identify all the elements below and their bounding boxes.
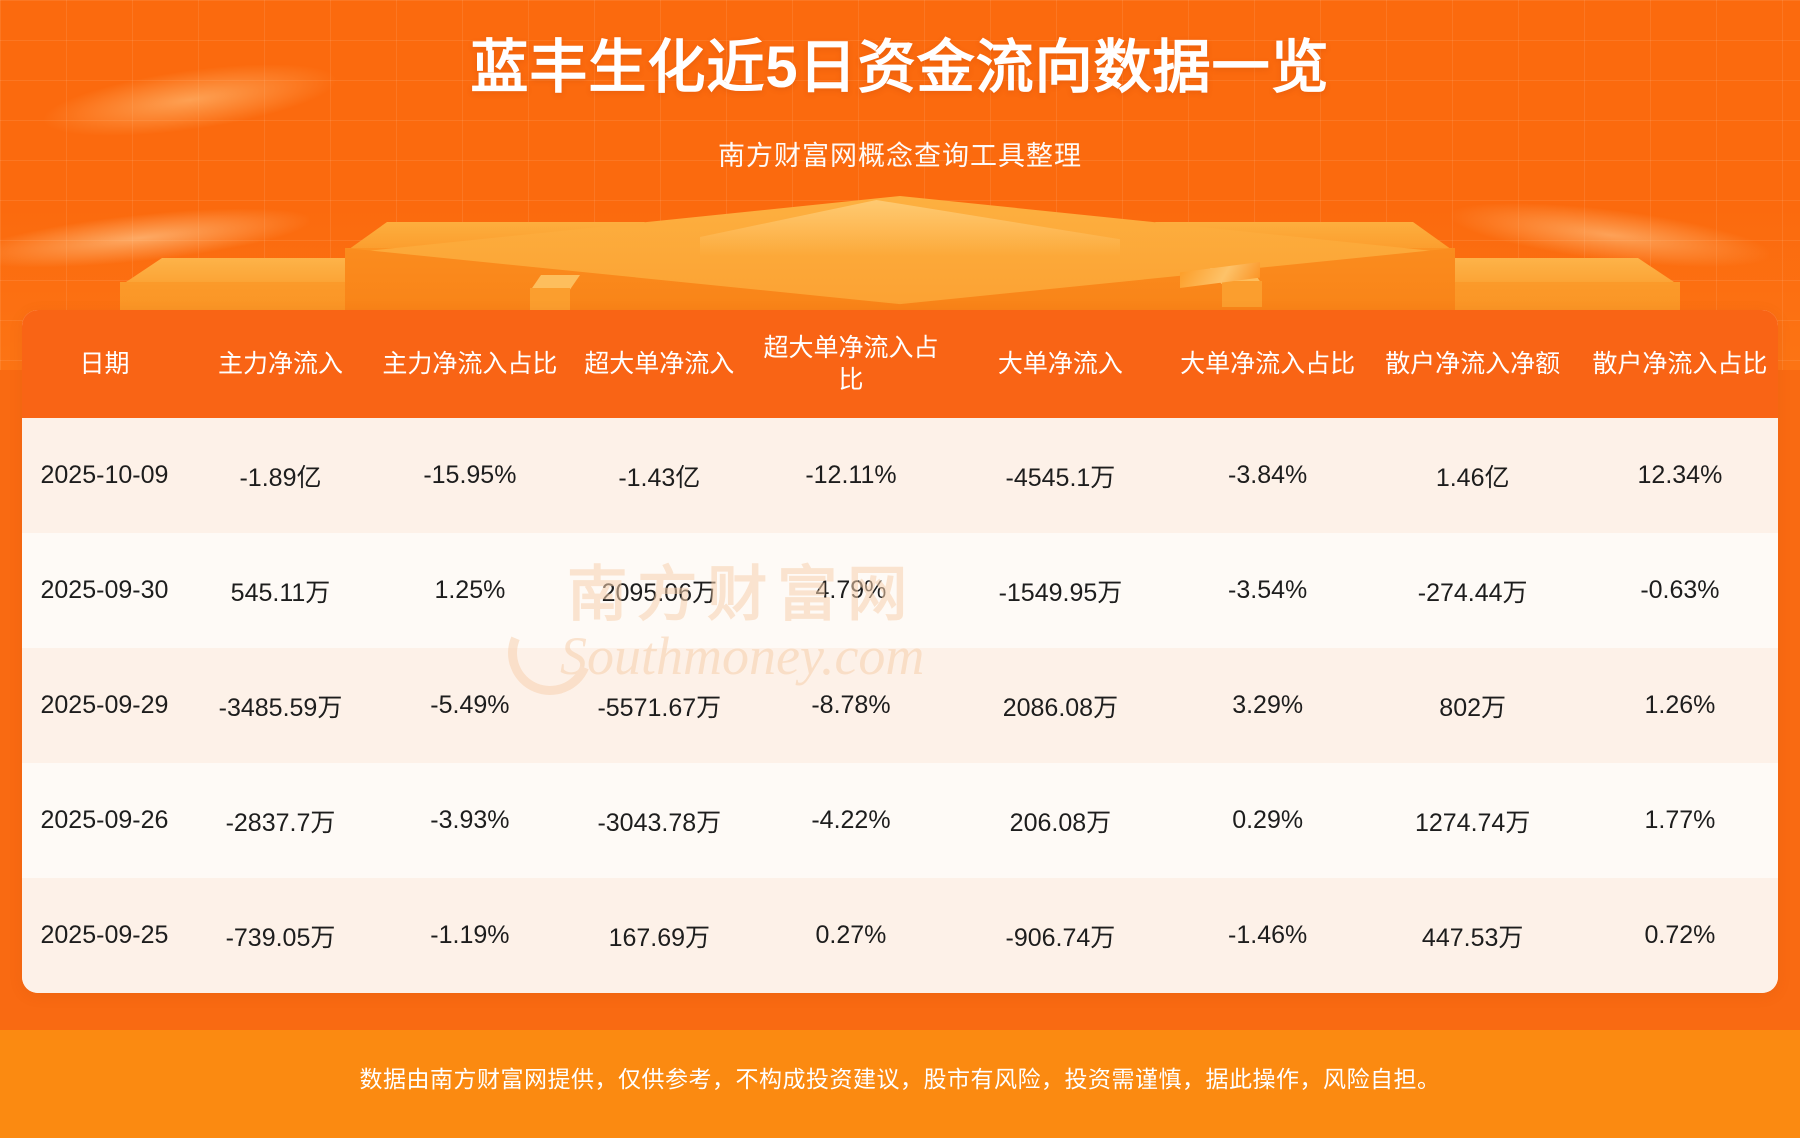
cell-value: 802万 bbox=[1363, 648, 1581, 763]
cell-value: -274.44万 bbox=[1363, 533, 1581, 648]
cell-date: 2025-09-25 bbox=[22, 878, 187, 993]
table-header-row: 日期主力净流入主力净流入占比超大单净流入超大单净流入占比大单净流入大单净流入占比… bbox=[22, 310, 1778, 418]
table-row: 2025-10-09-1.89亿-15.95%-1.43亿-12.11%-454… bbox=[22, 418, 1778, 533]
cell-value: -4545.1万 bbox=[949, 418, 1172, 533]
cell-value: 3.29% bbox=[1172, 648, 1364, 763]
cell-value: -8.78% bbox=[753, 648, 949, 763]
cell-value: -3485.59万 bbox=[187, 648, 374, 763]
column-header: 大单净流入占比 bbox=[1172, 310, 1364, 418]
cell-date: 2025-10-09 bbox=[22, 418, 187, 533]
cell-value: 0.29% bbox=[1172, 763, 1364, 878]
cell-value: -5.49% bbox=[374, 648, 566, 763]
page-subtitle: 南方财富网概念查询工具整理 bbox=[0, 134, 1800, 173]
cell-value: -2837.7万 bbox=[187, 763, 374, 878]
cell-value: -1549.95万 bbox=[949, 533, 1172, 648]
cell-date: 2025-09-30 bbox=[22, 533, 187, 648]
column-header: 超大单净流入占比 bbox=[753, 310, 949, 418]
cell-value: 1.77% bbox=[1582, 763, 1778, 878]
cell-value: 545.11万 bbox=[187, 533, 374, 648]
cell-value: -15.95% bbox=[374, 418, 566, 533]
page-title: 蓝丰生化近5日资金流向数据一览 bbox=[0, 36, 1800, 100]
column-header: 散户净流入净额 bbox=[1363, 310, 1581, 418]
cell-value: -906.74万 bbox=[949, 878, 1172, 993]
column-header: 散户净流入占比 bbox=[1582, 310, 1778, 418]
cell-value: -3043.78万 bbox=[566, 763, 753, 878]
fund-flow-table: 日期主力净流入主力净流入占比超大单净流入超大单净流入占比大单净流入大单净流入占比… bbox=[22, 310, 1778, 993]
title-block: 蓝丰生化近5日资金流向数据一览 南方财富网概念查询工具整理 bbox=[0, 36, 1800, 173]
cell-value: -739.05万 bbox=[187, 878, 374, 993]
cell-value: -5571.67万 bbox=[566, 648, 753, 763]
table-body: 2025-10-09-1.89亿-15.95%-1.43亿-12.11%-454… bbox=[22, 418, 1778, 993]
column-header: 主力净流入 bbox=[187, 310, 374, 418]
cell-value: -3.84% bbox=[1172, 418, 1364, 533]
cell-value: -1.43亿 bbox=[566, 418, 753, 533]
cell-value: 2095.06万 bbox=[566, 533, 753, 648]
cell-value: 206.08万 bbox=[949, 763, 1172, 878]
table-row: 2025-09-29-3485.59万-5.49%-5571.67万-8.78%… bbox=[22, 648, 1778, 763]
cell-value: -3.93% bbox=[374, 763, 566, 878]
cell-value: -1.46% bbox=[1172, 878, 1364, 993]
cell-value: 2086.08万 bbox=[949, 648, 1172, 763]
decor-cube-right-face bbox=[1222, 281, 1262, 307]
footer-disclaimer: 数据由南方财富网提供，仅供参考，不构成投资建议，股市有风险，投资需谨慎，据此操作… bbox=[0, 1060, 1800, 1094]
cell-value: 12.34% bbox=[1582, 418, 1778, 533]
cell-value: 1.26% bbox=[1582, 648, 1778, 763]
column-header: 超大单净流入 bbox=[566, 310, 753, 418]
table-row: 2025-09-26-2837.7万-3.93%-3043.78万-4.22%2… bbox=[22, 763, 1778, 878]
table-head: 日期主力净流入主力净流入占比超大单净流入超大单净流入占比大单净流入大单净流入占比… bbox=[22, 310, 1778, 418]
cell-value: 1274.74万 bbox=[1363, 763, 1581, 878]
cell-value: 0.27% bbox=[753, 878, 949, 993]
cell-value: 4.79% bbox=[753, 533, 949, 648]
cell-value: -1.19% bbox=[374, 878, 566, 993]
cell-value: 447.53万 bbox=[1363, 878, 1581, 993]
cell-date: 2025-09-29 bbox=[22, 648, 187, 763]
data-table-card: 日期主力净流入主力净流入占比超大单净流入超大单净流入占比大单净流入大单净流入占比… bbox=[22, 310, 1778, 993]
cell-value: -3.54% bbox=[1172, 533, 1364, 648]
cell-date: 2025-09-26 bbox=[22, 763, 187, 878]
footer-bar: 数据由南方财富网提供，仅供参考，不构成投资建议，股市有风险，投资需谨慎，据此操作… bbox=[0, 1030, 1800, 1138]
cell-value: 167.69万 bbox=[566, 878, 753, 993]
cell-value: 1.46亿 bbox=[1363, 418, 1581, 533]
column-header: 日期 bbox=[22, 310, 187, 418]
table-row: 2025-09-25-739.05万-1.19%167.69万0.27%-906… bbox=[22, 878, 1778, 993]
cell-value: -12.11% bbox=[753, 418, 949, 533]
column-header: 大单净流入 bbox=[949, 310, 1172, 418]
column-header: 主力净流入占比 bbox=[374, 310, 566, 418]
cell-value: 1.25% bbox=[374, 533, 566, 648]
table-row: 2025-09-30545.11万1.25%2095.06万4.79%-1549… bbox=[22, 533, 1778, 648]
cell-value: -0.63% bbox=[1582, 533, 1778, 648]
cell-value: -1.89亿 bbox=[187, 418, 374, 533]
cell-value: -4.22% bbox=[753, 763, 949, 878]
cell-value: 0.72% bbox=[1582, 878, 1778, 993]
